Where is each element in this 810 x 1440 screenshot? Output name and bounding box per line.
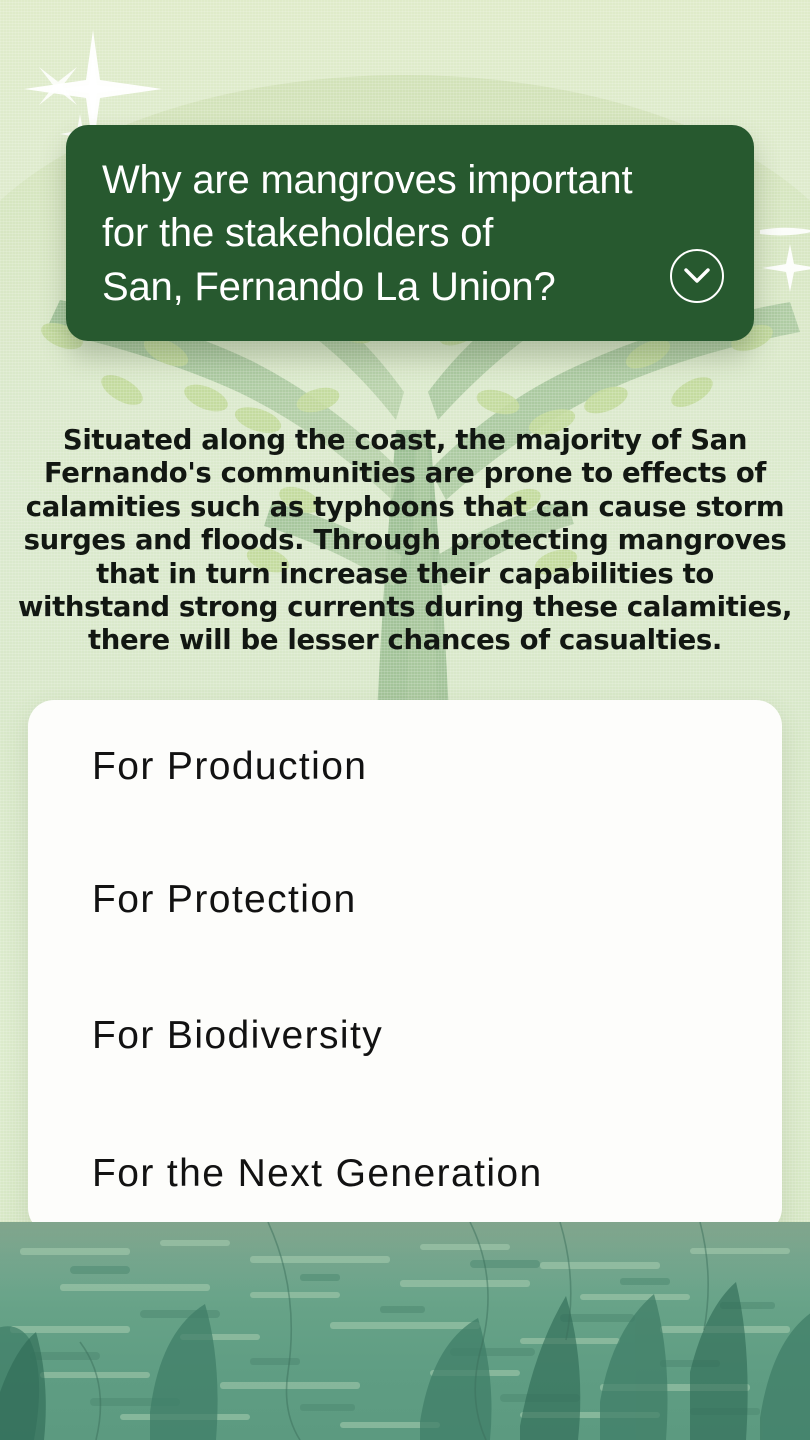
sparkle-icon: [760, 226, 810, 296]
question-text: Why are mangroves important for the stak…: [102, 154, 632, 315]
mangrove-water-band: [0, 1222, 810, 1440]
option-item-protection[interactable]: For Protection: [92, 878, 357, 922]
answer-text: Situated along the coast, the majority o…: [10, 424, 800, 658]
option-item-production[interactable]: For Production: [92, 745, 367, 789]
chevron-down-icon[interactable]: [670, 249, 724, 303]
option-item-biodiversity[interactable]: For Biodiversity: [92, 1014, 383, 1058]
option-item-next-generation[interactable]: For the Next Generation: [92, 1152, 543, 1196]
question-card[interactable]: Why are mangroves important for the stak…: [66, 125, 754, 341]
question-card-body: Why are mangroves important for the stak…: [66, 125, 754, 341]
app-screen: Why are mangroves important for the stak…: [0, 0, 810, 1440]
options-card: For Production For Protection For Biodiv…: [28, 700, 782, 1234]
